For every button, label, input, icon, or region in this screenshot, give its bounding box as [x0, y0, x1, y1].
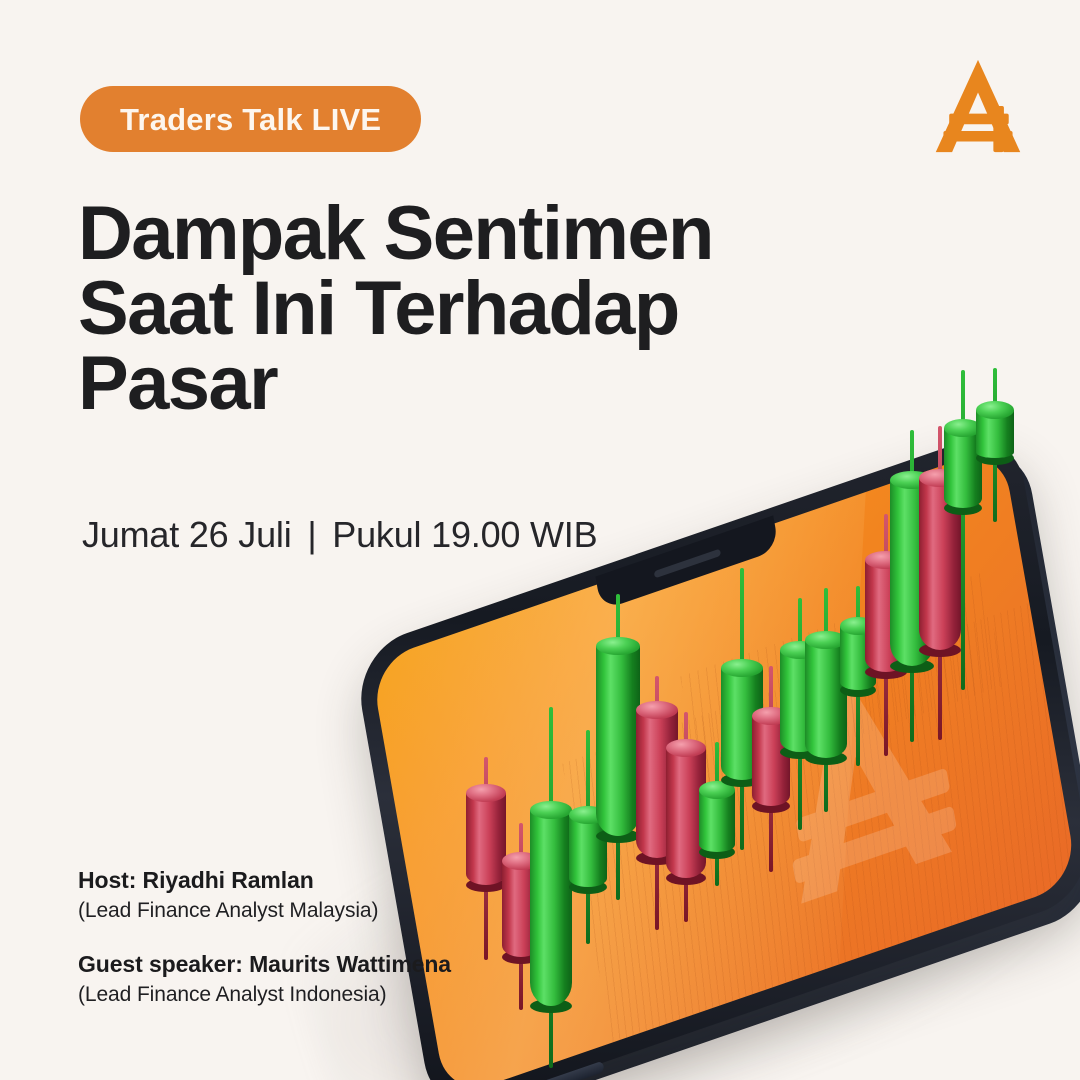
candlestick-body-cap [596, 637, 640, 655]
candlestick-body [699, 790, 735, 852]
candlestick-body-cap [890, 471, 934, 489]
candlestick-body-base [890, 659, 934, 673]
candlestick-body-cylinder [780, 650, 820, 752]
candlestick-body-cap [752, 707, 790, 725]
candlestick-body-cap [466, 784, 506, 802]
candlestick-body [976, 410, 1014, 458]
event-schedule: Jumat 26 Juli | Pukul 19.00 WIB [82, 514, 597, 556]
candlestick-17-bullish [944, 370, 982, 690]
guest-speaker-entry: Guest speaker: Maurits Wattimena (Lead F… [78, 950, 598, 1008]
candlestick-wick [769, 666, 773, 872]
phone-side-button [536, 1061, 604, 1080]
candlestick-body-cylinder [699, 790, 735, 852]
phone-speaker-icon [654, 549, 721, 579]
candlestick-wick [938, 426, 942, 740]
candlestick-body-base [721, 773, 763, 787]
candlestick-12-bullish [805, 588, 847, 812]
candlestick-wick [655, 676, 659, 930]
candlestick-11-bullish [780, 598, 820, 830]
brand-a-watermark-icon [665, 583, 1054, 971]
phone-notch [595, 515, 779, 610]
candlestick-6-bearish [636, 676, 678, 930]
candlestick-body-base [699, 845, 735, 859]
candlestick-5-bullish [596, 594, 640, 900]
candlestick-body [636, 710, 678, 858]
candlestick-body-base [976, 451, 1014, 465]
event-date: Jumat 26 Juli [82, 514, 292, 555]
candlestick-body-cap [569, 806, 607, 824]
guest-speaker-name: Guest speaker: Maurits Wattimena [78, 950, 598, 979]
brand-a-logo-icon [930, 56, 1026, 156]
candlestick-body-cap [780, 641, 820, 659]
host-name: Host: Riyadhi Ramlan [78, 866, 598, 895]
candlestick-body-cap [944, 419, 982, 437]
candlestick-wick [961, 370, 965, 690]
candlestick-body-cylinder [721, 668, 763, 780]
candlestick-body-cylinder [840, 626, 876, 690]
candlestick-body [865, 560, 907, 672]
speaker-list: Host: Riyadhi Ramlan (Lead Finance Analy… [78, 866, 598, 1008]
candlestick-body [666, 748, 706, 878]
candlestick-body-cap [699, 781, 735, 799]
candlestick-body [919, 478, 961, 650]
candlestick-body-base [636, 851, 678, 865]
candlestick-9-bullish [721, 568, 763, 850]
page-title: Dampak Sentimen Saat Ini Terhadap Pasar [78, 196, 818, 422]
headline-line-2: Saat Ini Terhadap [78, 271, 818, 346]
candlestick-body-base [840, 683, 876, 697]
candlestick-body-cap [636, 701, 678, 719]
candlestick-7-bearish [666, 712, 706, 922]
candlestick-body [780, 650, 820, 752]
candlestick-wick [824, 588, 828, 812]
candlestick-body-cylinder [944, 428, 982, 508]
candlestick-body [805, 640, 847, 758]
event-time: Pukul 19.00 WIB [332, 514, 597, 555]
screen-texture [562, 594, 1079, 1069]
candlestick-body-cap [919, 469, 961, 487]
poster-canvas: Traders Talk LIVE Dampak Sentimen Saat I… [0, 0, 1080, 1080]
live-badge[interactable]: Traders Talk LIVE [80, 86, 421, 152]
candlestick-wick [616, 594, 620, 900]
candlestick-body-base [666, 871, 706, 885]
host-role: (Lead Finance Analyst Malaysia) [78, 897, 598, 924]
guest-speaker-role: (Lead Finance Analyst Indonesia) [78, 981, 598, 1008]
candlestick-body [752, 716, 790, 806]
candlestick-body-cylinder [596, 646, 640, 836]
candlestick-wick [715, 742, 719, 886]
candlestick-body-base [865, 665, 907, 679]
candlestick-body-cap [976, 401, 1014, 419]
candlestick-body-cap [865, 551, 907, 569]
candlestick-body-cylinder [976, 410, 1014, 458]
candlestick-body [596, 646, 640, 836]
screen-texture-upper [681, 572, 1004, 790]
candlestick-body-base [805, 751, 847, 765]
host-entry: Host: Riyadhi Ramlan (Lead Finance Analy… [78, 866, 598, 924]
candlestick-body-base [919, 643, 961, 657]
candlestick-wick [798, 598, 802, 830]
candlestick-wick [884, 514, 888, 756]
candlestick-10-bearish [752, 666, 790, 872]
candlestick-18-bullish [976, 368, 1014, 522]
candlestick-body-cylinder [666, 748, 706, 878]
candlestick-13-bullish [840, 586, 876, 766]
candlestick-wick [910, 430, 914, 742]
candlestick-body-base [780, 745, 820, 759]
candlestick-body-cap [721, 659, 763, 677]
candlestick-wick [740, 568, 744, 850]
phone-shadow [270, 647, 1080, 1080]
candlestick-wick [856, 586, 860, 766]
candlestick-body-cylinder [636, 710, 678, 858]
candlestick-8-bullish [699, 742, 735, 886]
candlestick-body-cap [805, 631, 847, 649]
candlestick-body-base [944, 501, 982, 515]
headline-line-1: Dampak Sentimen [78, 196, 818, 271]
candlestick-16-bearish [919, 426, 961, 740]
candlestick-body-cap [530, 801, 572, 819]
candlestick-body [944, 428, 982, 508]
headline-line-3: Pasar [78, 346, 818, 421]
candlestick-body [840, 626, 876, 690]
candlestick-14-bearish [865, 514, 907, 756]
candlestick-wick [684, 712, 688, 922]
candlestick-body-cylinder [865, 560, 907, 672]
candlestick-body-cylinder [890, 480, 934, 666]
candlestick-wick [993, 368, 997, 522]
candlestick-body [890, 480, 934, 666]
candlestick-body [721, 668, 763, 780]
candlestick-body-cylinder [919, 478, 961, 650]
candlestick-body-cylinder [805, 640, 847, 758]
candlestick-body-cap [840, 617, 876, 635]
candlestick-body-cylinder [752, 716, 790, 806]
candlestick-body-cap [666, 739, 706, 757]
candlestick-body-base [596, 829, 640, 843]
schedule-separator: | [301, 514, 322, 555]
candlestick-15-bullish [890, 430, 934, 742]
live-badge-label: Traders Talk LIVE [120, 104, 381, 135]
candlestick-body-base [752, 799, 790, 813]
